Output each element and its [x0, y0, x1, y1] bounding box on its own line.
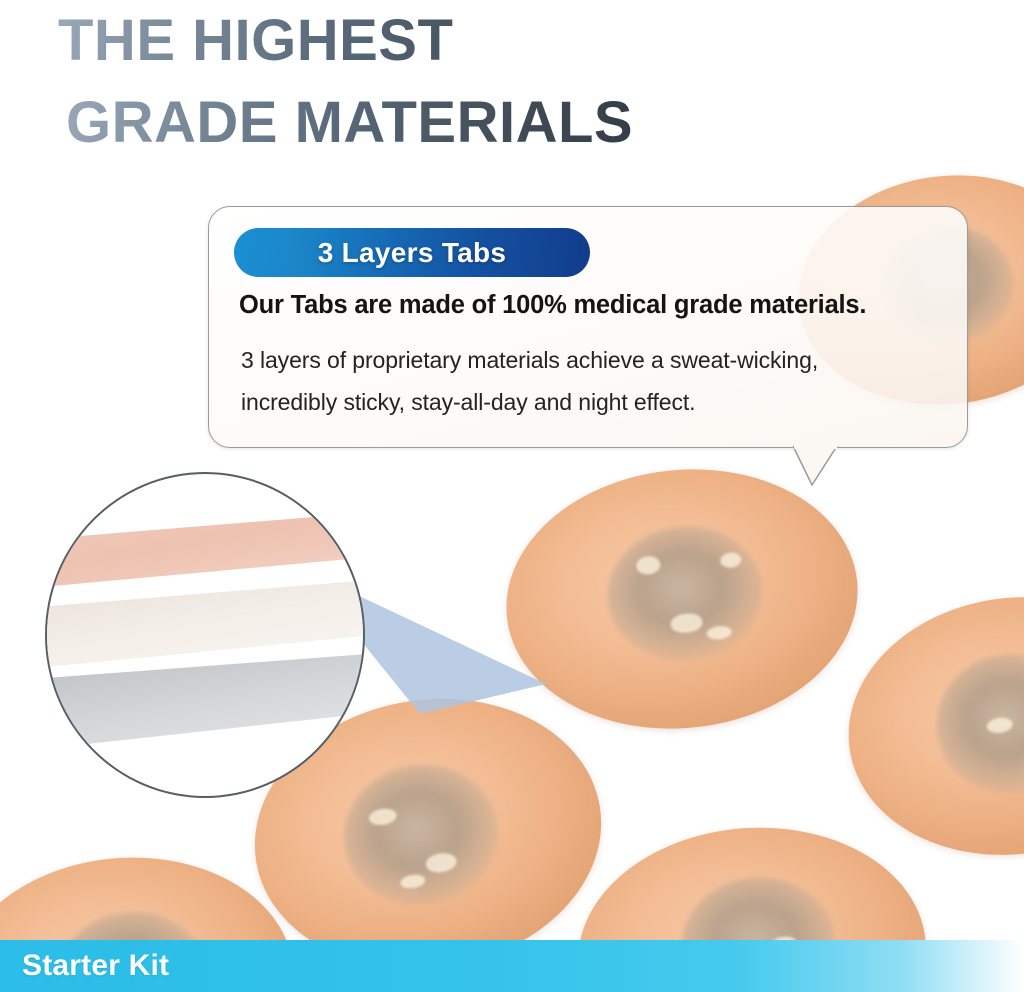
- layers-badge: 3 Layers Tabs: [234, 228, 590, 277]
- product-marketing-graphic: 3 Layers Tabs Our Tabs are made of 100% …: [0, 0, 1024, 992]
- pad-center-texture: [335, 754, 508, 916]
- callout-body-line-1: 3 layers of proprietary materials achiev…: [241, 339, 959, 381]
- headline-line-2: GRADE MATERIALS: [66, 82, 998, 164]
- layers-badge-label: 3 Layers Tabs: [318, 237, 507, 269]
- material-layer-bottom: [45, 651, 365, 767]
- product-pad: [832, 576, 1024, 875]
- product-pad: [493, 452, 870, 745]
- page-title: THE HIGHEST GRADE MATERIALS: [58, 0, 998, 164]
- layers-magnifier-circle: [45, 472, 365, 798]
- pad-center-texture: [601, 519, 769, 669]
- banner-label: Starter Kit: [22, 949, 169, 983]
- bottom-banner: Starter Kit: [0, 940, 1024, 992]
- callout-body-line-2: incredibly sticky, stay-all-day and nigh…: [241, 381, 959, 423]
- callout-tail: [793, 446, 839, 486]
- headline-line-1: THE HIGHEST: [58, 0, 998, 82]
- callout-body: 3 layers of proprietary materials achiev…: [241, 339, 959, 423]
- info-callout-box: 3 Layers Tabs Our Tabs are made of 100% …: [208, 206, 968, 448]
- callout-heading: Our Tabs are made of 100% medical grade …: [239, 291, 866, 320]
